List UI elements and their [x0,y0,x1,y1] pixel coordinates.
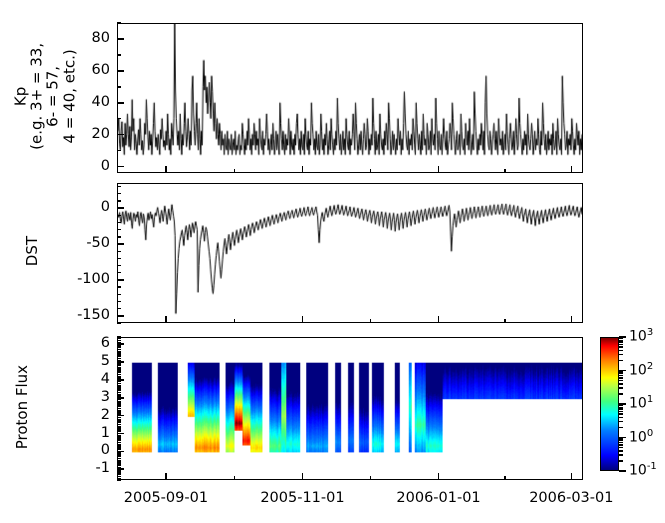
dst-y-major-tick [117,315,124,317]
flux-y-major-tick [117,361,124,363]
flux-y-minor-tick [117,422,121,423]
flux-y-major-tick [117,468,124,470]
kp-x-major-tick [571,166,573,173]
dst-y-major-tick [117,279,124,281]
flux-y-minor-tick [117,402,121,403]
flux-y-minor-tick [117,365,121,366]
dst-y-minor-tick [117,229,121,230]
colorbar-label-exponent: 3 [647,327,653,338]
flux-y-minor-tick [117,381,121,382]
flux-y-minor-tick [117,454,121,455]
dst-y-minor-tick [117,222,121,223]
flux-y-major-tick [117,379,124,381]
colorbar-minor-tick [619,438,623,439]
flux-y-minor-tick [117,404,121,405]
dst-x-major-tick [302,316,304,323]
colorbar-minor-tick [619,340,623,341]
dst-y-tick-label: -100 [77,272,110,287]
flux-x-major-tick [571,473,573,480]
flux-y-minor-tick [117,411,121,412]
x-axis-tick-label: 2006-03-01 [516,491,626,506]
dst-y-minor-tick [117,322,121,323]
colorbar-minor-tick [619,373,623,374]
dst-y-tick-label: 0 [101,200,110,215]
figure-canvas: Kp(e.g. 3+ = 33,6- = 57,4 = 40, etc.) 02… [0,0,665,523]
colorbar-minor-tick [619,421,623,422]
flux-y-minor-tick [117,465,121,466]
flux-y-minor-tick [117,408,121,409]
flux-y-minor-tick [117,424,121,425]
dst-y-minor-tick [117,215,121,216]
colorbar-major-tick [619,336,626,338]
flux-y-minor-tick [117,372,121,373]
colorbar-minor-tick [619,408,623,409]
flux-y-minor-tick [117,442,121,443]
flux-x-major-tick [165,473,167,480]
flux-y-minor-tick [117,426,121,427]
colorbar-tick-label: 10-1 [629,462,657,478]
kp-y-tick-label: 0 [101,159,110,174]
kp-y-major-tick [117,102,124,104]
colorbar-minor-tick [619,427,623,428]
dst-y-tick-label: -50 [86,236,110,251]
dst-y-major-tick [117,243,124,245]
kp-y-minor-tick [117,22,121,23]
flux-y-minor-tick [117,478,121,479]
flux-y-minor-tick [117,472,121,473]
dst-x-minor-tick [234,319,235,323]
flux-y-tick-label: 1 [101,426,110,441]
colorbar [600,337,619,471]
flux-y-minor-tick [117,476,121,477]
kp-y-minor-tick [117,54,121,55]
flux-x-minor-tick [504,476,505,480]
flux-y-minor-tick [117,368,121,369]
flux-y-minor-tick [117,461,121,462]
colorbar-label-mantissa: 10 [629,396,647,412]
kp-y-minor-tick [117,150,121,151]
flux-y-minor-tick [117,336,121,337]
kp-y-minor-tick [117,86,121,87]
flux-x-minor-tick [234,476,235,480]
colorbar-minor-tick [619,440,623,441]
flux-y-major-tick [117,397,124,399]
colorbar-minor-tick [619,377,623,378]
flux-y-minor-tick [117,460,121,461]
flux-y-minor-tick [117,401,121,402]
colorbar-minor-tick [619,383,623,384]
flux-y-tick-label: 6 [101,336,110,351]
kp-y-major-tick [117,70,124,72]
colorbar-label-exponent: 2 [647,361,653,372]
flux-y-minor-tick [117,388,121,389]
dst-y-minor-tick [117,286,121,287]
colorbar-minor-tick [619,350,623,351]
flux-y-minor-tick [117,370,121,371]
flux-y-minor-tick [117,386,121,387]
colorbar-label-mantissa: 10 [629,329,647,345]
flux-x-major-tick [438,473,440,480]
flux-y-minor-tick [117,406,121,407]
kp-x-major-tick [165,166,167,173]
flux-y-minor-tick [117,392,121,393]
dst-y-minor-tick [117,272,121,273]
flux-y-minor-tick [117,445,121,446]
kp-axis-title-line: (e.g. 3+ = 33, [29,16,45,176]
dst-axis-title: DST [24,231,40,271]
dst-y-minor-tick [117,258,121,259]
kp-axis-title: Kp(e.g. 3+ = 33,6- = 57,4 = 40, etc.) [13,16,78,176]
colorbar-minor-tick [619,444,623,445]
x-axis-tick-label: 2005-11-01 [247,491,357,506]
kp-x-major-tick [302,166,304,173]
dst-y-tick-label: -150 [77,308,110,323]
flux-y-minor-tick [117,367,121,368]
flux-y-minor-tick [117,340,121,341]
colorbar-gradient [601,338,618,470]
colorbar-major-tick [619,403,626,405]
flux-y-minor-tick [117,479,121,480]
dst-x-major-tick [571,316,573,323]
kp-y-tick-label: 80 [92,31,110,46]
kp-x-minor-tick [504,169,505,173]
flux-y-minor-tick [117,385,121,386]
flux-y-minor-tick [117,470,121,471]
flux-y-minor-tick [117,358,121,359]
flux-x-major-tick [302,473,304,480]
colorbar-minor-tick [619,442,623,443]
flux-y-minor-tick [117,394,121,395]
colorbar-minor-tick [619,344,623,345]
colorbar-minor-tick [619,375,623,376]
colorbar-tick-label: 101 [629,395,653,411]
flux-y-minor-tick [117,376,121,377]
colorbar-minor-tick [619,354,623,355]
dst-x-major-tick [438,316,440,323]
colorbar-tick-label: 103 [629,328,653,344]
colorbar-minor-tick [619,411,623,412]
flux-y-minor-tick [117,363,121,364]
kp-y-major-tick [117,166,124,168]
flux-y-minor-tick [117,419,121,420]
flux-y-major-tick [117,433,124,435]
flux-y-minor-tick [117,399,121,400]
kp-axis-title-line: 6- = 57, [45,16,61,176]
kp-axis-title-line: Kp [13,16,29,176]
x-axis-tick-label: 2005-09-01 [111,491,221,506]
kp-y-tick-label: 60 [92,63,110,78]
colorbar-minor-tick [619,454,623,455]
kp-panel [117,23,583,173]
dst-series-plot [118,184,582,322]
colorbar-label-mantissa: 10 [629,429,647,445]
flux-y-minor-tick [117,390,121,391]
kp-y-major-tick [117,134,124,136]
flux-y-tick-label: -1 [96,461,110,476]
flux-y-minor-tick [117,458,121,459]
dst-y-minor-tick [117,200,121,201]
flux-y-minor-tick [117,338,121,339]
flux-y-minor-tick [117,463,121,464]
dst-y-minor-tick [117,251,121,252]
dst-x-major-tick [165,316,167,323]
colorbar-tick-label: 102 [629,362,653,378]
flux-y-tick-label: 0 [101,443,110,458]
kp-y-minor-tick [117,118,121,119]
flux-y-minor-tick [117,347,121,348]
dst-y-minor-tick [117,236,121,237]
colorbar-minor-tick [619,417,623,418]
flux-y-minor-tick [117,444,121,445]
dst-y-minor-tick [117,193,121,194]
flux-x-minor-tick [370,476,371,480]
colorbar-minor-tick [619,450,623,451]
colorbar-label-exponent: -1 [647,461,657,472]
colorbar-label-exponent: 1 [647,394,653,405]
flux-y-minor-tick [117,345,121,346]
colorbar-label-mantissa: 10 [629,463,647,479]
flux-y-minor-tick [117,447,121,448]
colorbar-minor-tick [619,447,623,448]
flux-y-minor-tick [117,417,121,418]
colorbar-minor-tick [619,338,623,339]
dst-x-minor-tick [370,319,371,323]
flux-y-major-tick [117,415,124,417]
flux-y-minor-tick [117,410,121,411]
flux-y-minor-tick [117,420,121,421]
dst-y-major-tick [117,207,124,209]
colorbar-minor-tick [619,407,623,408]
kp-y-tick-label: 20 [92,127,110,142]
colorbar-minor-tick [619,346,623,347]
flux-y-minor-tick [117,374,121,375]
colorbar-minor-tick [619,413,623,414]
flux-y-tick-label: 2 [101,408,110,423]
colorbar-major-tick [619,370,626,372]
flux-y-minor-tick [117,452,121,453]
dst-x-minor-tick [504,319,505,323]
colorbar-minor-tick [619,371,623,372]
flux-y-minor-tick [117,440,121,441]
dst-y-minor-tick [117,294,121,295]
flux-y-minor-tick [117,456,121,457]
kp-x-major-tick [438,166,440,173]
colorbar-minor-tick [619,405,623,406]
proton-flux-panel [117,337,583,480]
dst-y-minor-tick [117,265,121,266]
colorbar-major-tick [619,470,626,472]
colorbar-minor-tick [619,460,623,461]
flux-y-minor-tick [117,352,121,353]
kp-x-minor-tick [370,169,371,173]
colorbar-minor-tick [619,387,623,388]
dst-panel [117,183,583,323]
colorbar-minor-tick [619,341,623,342]
proton-flux-heatmap [118,338,582,479]
flux-y-minor-tick [117,474,121,475]
colorbar-label-mantissa: 10 [629,362,647,378]
x-axis-tick-label: 2006-01-01 [384,491,494,506]
dst-y-minor-tick [117,301,121,302]
colorbar-minor-tick [619,380,623,381]
flux-y-tick-label: 4 [101,372,110,387]
flux-y-minor-tick [117,356,121,357]
flux-y-tick-label: 3 [101,390,110,405]
flux-y-minor-tick [117,354,121,355]
dst-y-minor-tick [117,186,121,187]
kp-y-major-tick [117,38,124,40]
kp-y-tick-label: 40 [92,95,110,110]
flux-y-minor-tick [117,435,121,436]
colorbar-minor-tick [619,360,623,361]
kp-axis-title-line: 4 = 40, etc.) [61,16,77,176]
colorbar-minor-tick [619,393,623,394]
proton-flux-axis-title: Proton Flux [14,362,30,452]
dst-y-minor-tick [117,308,121,309]
colorbar-major-tick [619,437,626,439]
flux-y-minor-tick [117,427,121,428]
flux-y-major-tick [117,451,124,453]
flux-y-major-tick [117,343,124,345]
flux-y-minor-tick [117,438,121,439]
flux-y-minor-tick [117,383,121,384]
kp-x-minor-tick [234,169,235,173]
flux-y-minor-tick [117,351,121,352]
colorbar-tick-label: 100 [629,429,653,445]
colorbar-label-exponent: 0 [647,428,653,439]
flux-y-minor-tick [117,429,121,430]
flux-y-tick-label: 5 [101,354,110,369]
flux-y-minor-tick [117,349,121,350]
flux-y-minor-tick [117,436,121,437]
kp-series-plot [118,24,582,172]
